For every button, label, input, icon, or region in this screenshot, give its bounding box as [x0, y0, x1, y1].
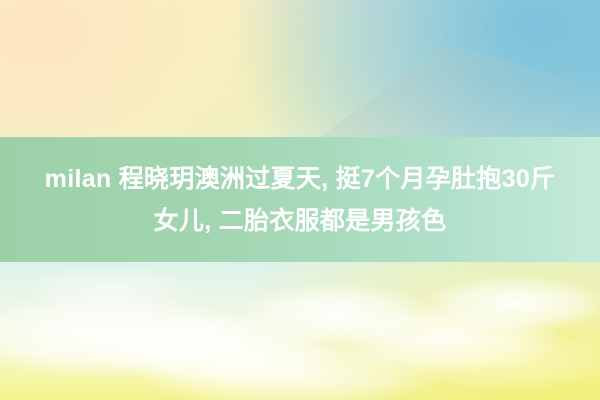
image-banner: milan 程晓玥澳洲过夏天, 挺7个月孕肚抱30斤 女儿, 二胎衣服都是男孩色 — [0, 0, 600, 400]
caption-band: milan 程晓玥澳洲过夏天, 挺7个月孕肚抱30斤 女儿, 二胎衣服都是男孩色 — [0, 137, 600, 262]
caption-line-1: milan 程晓玥澳洲过夏天, 挺7个月孕肚抱30斤 — [45, 159, 556, 199]
caption-line-2: 女儿, 二胎衣服都是男孩色 — [154, 201, 447, 241]
